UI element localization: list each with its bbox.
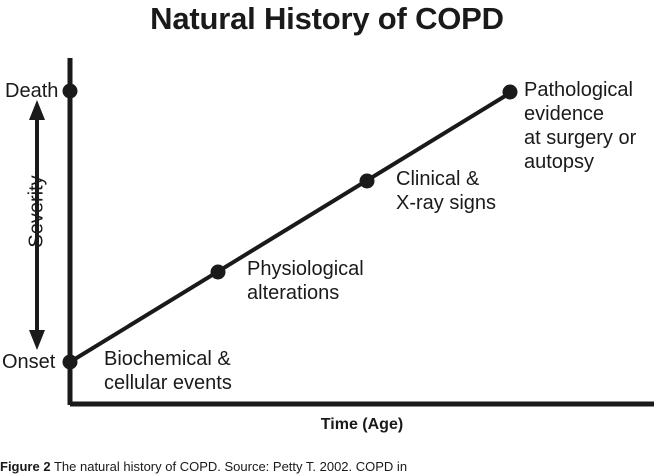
annotation-pathological-line2: evidence: [524, 102, 636, 126]
y-axis-top-label: Death: [5, 80, 58, 103]
annotation-pathological-line3: at surgery or: [524, 126, 636, 150]
y-axis-bottom-label: Onset: [2, 351, 55, 374]
figure-caption: Figure 2 The natural history of COPD. So…: [0, 459, 654, 475]
data-point-pathological: [503, 85, 518, 100]
annotation-physiological-line1: Physiological: [247, 257, 364, 281]
annotation-pathological-line1: Pathological: [524, 78, 636, 102]
data-point-biochemical: [63, 355, 78, 370]
annotation-pathological-line4: autopsy: [524, 150, 636, 174]
annotation-biochemical-line1: Biochemical &: [104, 347, 232, 371]
y-axis-title: Severity: [26, 152, 49, 272]
annotation-physiological: Physiological alterations: [247, 257, 364, 305]
annotation-biochemical: Biochemical & cellular events: [104, 347, 232, 395]
x-axis-title: Time (Age): [70, 416, 654, 434]
death-tick-marker: [63, 84, 78, 99]
data-point-clinical: [360, 174, 375, 189]
annotation-clinical: Clinical & X-ray signs: [396, 167, 496, 215]
annotation-clinical-line1: Clinical &: [396, 167, 496, 191]
annotation-biochemical-line2: cellular events: [104, 371, 232, 395]
annotation-pathological: Pathological evidence at surgery or auto…: [524, 78, 636, 174]
annotation-clinical-line2: X-ray signs: [396, 191, 496, 215]
chart-canvas: [0, 0, 654, 472]
progression-line: [70, 93, 510, 362]
data-point-physiological: [211, 265, 226, 280]
figure-container: Natural History of COPD Death Onset Seve…: [0, 0, 654, 472]
annotation-physiological-line2: alterations: [247, 281, 364, 305]
